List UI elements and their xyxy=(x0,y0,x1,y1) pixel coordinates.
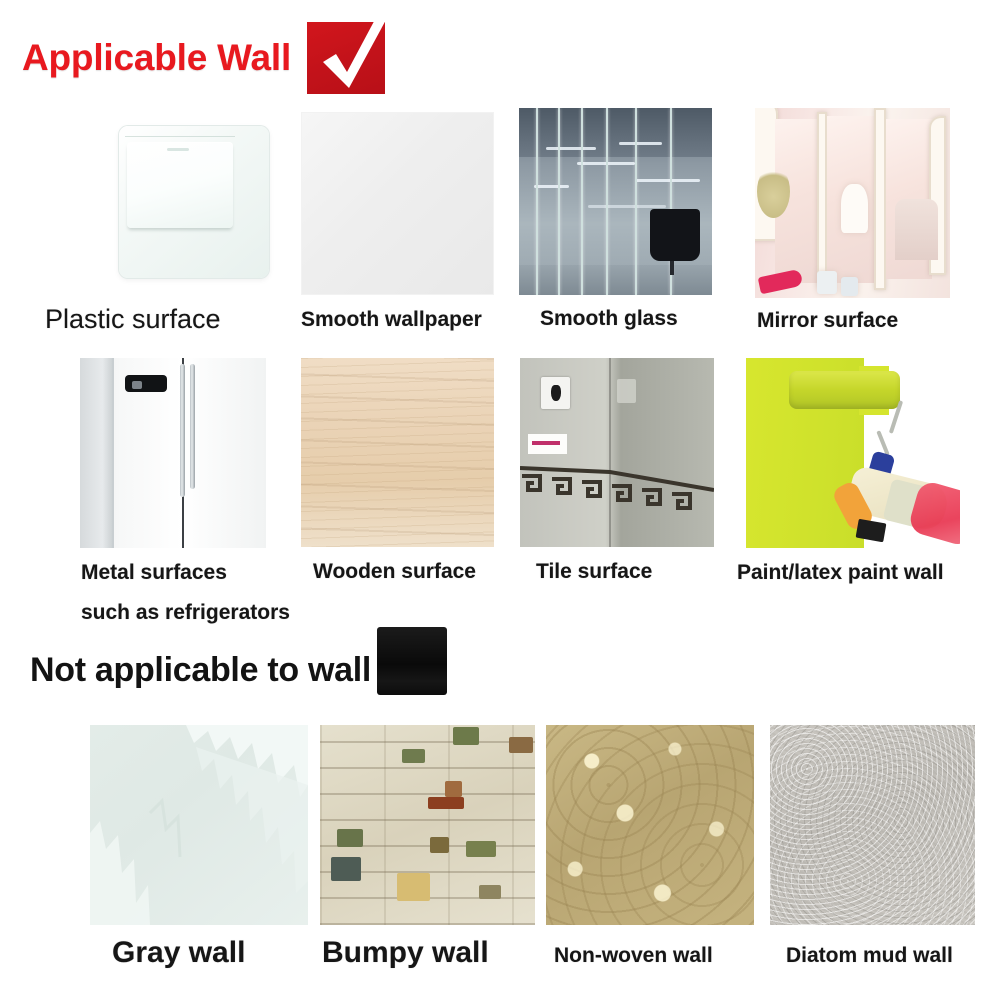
tile-label: Smooth wallpaper xyxy=(301,308,482,332)
tile-wooden-surface: Wooden surface xyxy=(301,358,494,547)
tile-smooth-wallpaper: Smooth wallpaper xyxy=(301,112,494,295)
tile-wall-photo xyxy=(520,358,714,547)
tile-non-woven-wall: Non-woven wall xyxy=(546,725,754,925)
red-check-icon xyxy=(307,22,385,94)
tile-bumpy-wall: Bumpy wall xyxy=(320,725,535,925)
smooth-wallpaper-swatch xyxy=(301,112,494,295)
wall-light-switch-photo xyxy=(105,112,275,290)
applicable-wall-infographic: Applicable Wall Plastic surface Smooth w… xyxy=(0,0,1000,1000)
tile-label-line2: such as refrigerators xyxy=(81,601,290,625)
tile-label: Bumpy wall xyxy=(322,936,489,970)
damask-nonwoven-swatch xyxy=(546,725,754,925)
tile-label: Metal surfaces xyxy=(81,561,227,585)
tile-label: Tile surface xyxy=(536,560,652,584)
black-square-icon xyxy=(377,627,447,695)
tile-gray-wall: Gray wall xyxy=(90,725,308,925)
tile-label: Non-woven wall xyxy=(554,944,713,968)
stone-cladding-photo xyxy=(320,725,535,925)
not-applicable-wall-heading: Not applicable to wall xyxy=(30,645,447,695)
tile-metal-surfaces: Metal surfaces such as refrigerators xyxy=(80,358,266,548)
diatom-mud-swatch xyxy=(770,725,975,925)
tile-label: Diatom mud wall xyxy=(786,944,953,968)
refrigerator-photo xyxy=(80,358,266,548)
tile-plastic-surface: Plastic surface xyxy=(105,112,275,290)
wood-grain-swatch xyxy=(301,358,494,547)
not-applicable-wall-title: Not applicable to wall xyxy=(30,651,371,690)
applicable-wall-heading: Applicable Wall xyxy=(22,22,385,94)
paint-roller-photo xyxy=(746,358,960,548)
tile-label: Paint/latex paint wall xyxy=(737,561,944,585)
tile-paint-latex-wall: Paint/latex paint wall xyxy=(746,358,960,548)
tile-label: Smooth glass xyxy=(540,307,678,331)
tile-label: Gray wall xyxy=(112,936,245,970)
applicable-wall-title: Applicable Wall xyxy=(22,37,291,79)
mirror-vanity-photo xyxy=(755,108,950,298)
peeling-gray-wall-photo xyxy=(90,725,308,925)
tile-label: Mirror surface xyxy=(757,309,898,333)
tile-label: Wooden surface xyxy=(313,560,476,584)
tile-mirror-surface: Mirror surface xyxy=(755,108,950,298)
tile-tile-surface: Tile surface xyxy=(520,358,714,547)
tile-label: Plastic surface xyxy=(45,304,221,335)
tile-diatom-mud-wall: Diatom mud wall xyxy=(770,725,975,925)
tile-smooth-glass: Smooth glass xyxy=(519,108,712,295)
glass-partition-photo xyxy=(519,108,712,295)
